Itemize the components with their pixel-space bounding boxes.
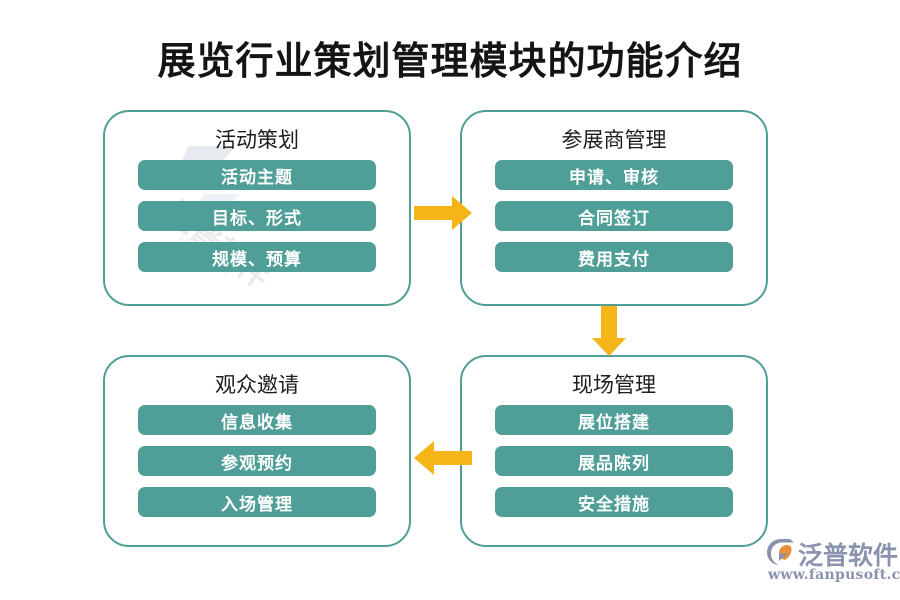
group-box-planning[interactable]: 活动策划 活动主题 目标、形式 规模、预算 xyxy=(103,110,411,306)
pill-item[interactable]: 入场管理 xyxy=(138,487,376,517)
arrow-down-icon xyxy=(592,306,626,356)
brand-logo: 泛普软件 www.fanpusoft.com xyxy=(766,534,892,590)
brand-url: www.fanpusoft.com xyxy=(768,567,900,583)
pill-item[interactable]: 展品陈列 xyxy=(495,446,733,476)
pill-item[interactable]: 展位搭建 xyxy=(495,405,733,435)
pill-stack-exhibitor: 申请、审核 合同签订 费用支付 xyxy=(462,160,766,272)
pill-item[interactable]: 费用支付 xyxy=(495,242,733,272)
group-title-onsite: 现场管理 xyxy=(462,369,766,399)
group-title-planning: 活动策划 xyxy=(105,124,409,154)
pill-item[interactable]: 安全措施 xyxy=(495,487,733,517)
pill-stack-planning: 活动主题 目标、形式 规模、预算 xyxy=(105,160,409,272)
group-box-onsite[interactable]: 现场管理 展位搭建 展品陈列 安全措施 xyxy=(460,355,768,547)
arrow-right-icon xyxy=(414,196,472,230)
fanpu-swirl-icon xyxy=(766,538,796,566)
arrow-left-icon xyxy=(414,441,472,475)
pill-item[interactable]: 活动主题 xyxy=(138,160,376,190)
pill-item[interactable]: 合同签订 xyxy=(495,201,733,231)
group-box-audience[interactable]: 观众邀请 信息收集 参观预约 入场管理 xyxy=(103,355,411,547)
pill-stack-onsite: 展位搭建 展品陈列 安全措施 xyxy=(462,405,766,517)
group-title-audience: 观众邀请 xyxy=(105,369,409,399)
pill-stack-audience: 信息收集 参观预约 入场管理 xyxy=(105,405,409,517)
pill-item[interactable]: 规模、预算 xyxy=(138,242,376,272)
pill-item[interactable]: 参观预约 xyxy=(138,446,376,476)
pill-item[interactable]: 目标、形式 xyxy=(138,201,376,231)
pill-item[interactable]: 申请、审核 xyxy=(495,160,733,190)
diagram-canvas: 展览行业策划管理模块的功能介绍 泛普软件 SOFTWARE 活动策划 活动主题 … xyxy=(0,0,900,600)
page-title: 展览行业策划管理模块的功能介绍 xyxy=(0,38,900,84)
group-title-exhibitor: 参展商管理 xyxy=(462,124,766,154)
group-box-exhibitor[interactable]: 参展商管理 申请、审核 合同签订 费用支付 xyxy=(460,110,768,306)
pill-item[interactable]: 信息收集 xyxy=(138,405,376,435)
